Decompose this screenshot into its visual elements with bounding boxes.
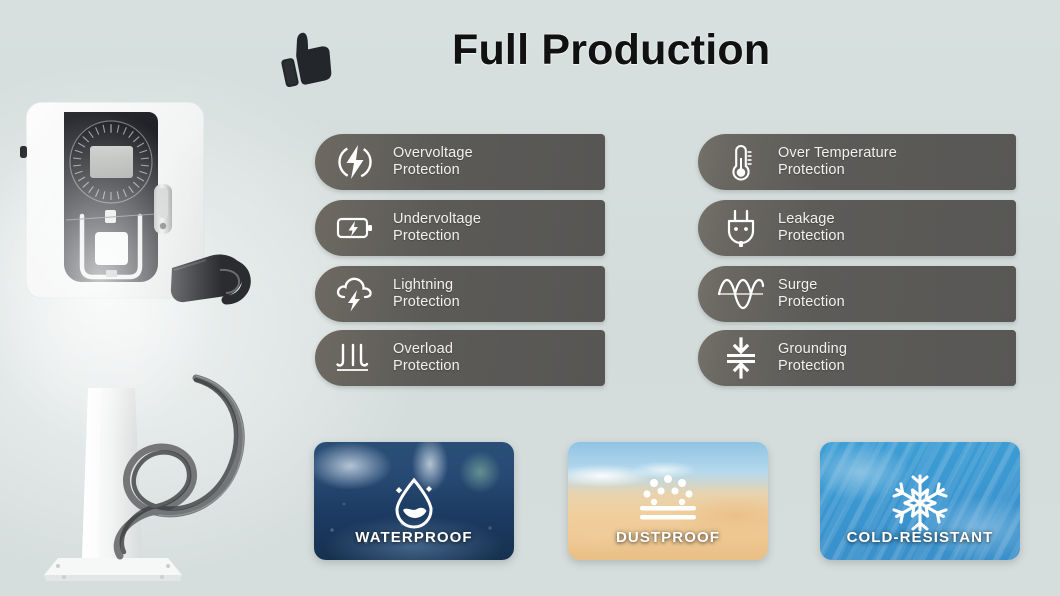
water-drop-icon (385, 472, 443, 530)
ev-charging-station-image (0, 88, 290, 588)
badge-text: Overload Protection (393, 341, 460, 376)
badge-text: Overvoltage Protection (393, 145, 473, 180)
grounding-arrows-icon (712, 337, 770, 379)
protection-badge-overload[interactable]: Overload Protection (315, 330, 605, 386)
feature-card-dustproof[interactable]: DUSTPROOF (568, 442, 768, 560)
protection-badge-overvoltage[interactable]: Overvoltage Protection (315, 134, 605, 190)
protection-badge-grounding[interactable]: Grounding Protection (698, 330, 1016, 386)
protection-badge-over-temperature[interactable]: Over Temperature Protection (698, 134, 1016, 190)
overvoltage-bolt-circle-icon (327, 143, 383, 181)
snowflake-icon (889, 472, 951, 534)
protection-badge-undervoltage[interactable]: Undervoltage Protection (315, 200, 605, 256)
thermometer-icon (712, 142, 770, 182)
page-title: Full Production (452, 26, 770, 75)
badge-text: Grounding Protection (778, 341, 847, 376)
lightning-cloud-bolt-icon (327, 275, 383, 313)
badge-text: Over Temperature Protection (778, 145, 897, 180)
undervoltage-battery-bolt-icon (327, 212, 383, 244)
badge-text: Leakage Protection (778, 211, 845, 246)
card-label: WATERPROOF (314, 529, 514, 546)
badge-text: Lightning Protection (393, 277, 460, 312)
protection-badge-surge[interactable]: Surge Protection (698, 266, 1016, 322)
overload-waveform-icon (327, 341, 383, 375)
thumbs-up-icon (277, 28, 335, 90)
card-label: COLD-RESISTANT (820, 529, 1020, 546)
feature-card-waterproof[interactable]: WATERPROOF (314, 442, 514, 560)
card-label: DUSTPROOF (568, 529, 768, 546)
dust-particles-icon (632, 472, 704, 528)
badge-text: Undervoltage Protection (393, 211, 481, 246)
badge-text: Surge Protection (778, 277, 845, 312)
feature-card-cold-resistant[interactable]: COLD-RESISTANT (820, 442, 1020, 560)
protection-badge-leakage[interactable]: Leakage Protection (698, 200, 1016, 256)
power-plug-icon (712, 208, 770, 248)
sine-wave-icon (712, 278, 770, 310)
product-glow (0, 78, 290, 548)
protection-badge-lightning[interactable]: Lightning Protection (315, 266, 605, 322)
slide-background: Full Production Overvoltage Protection U… (0, 0, 1060, 596)
